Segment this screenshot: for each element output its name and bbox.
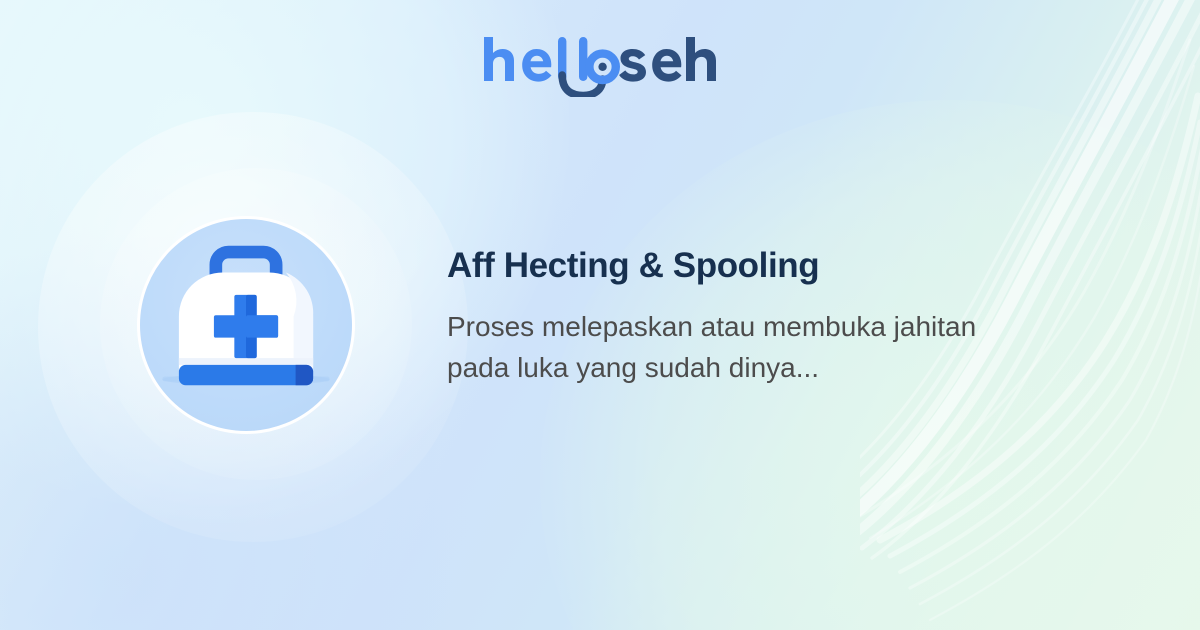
entry-description: Proses melepaskan atau membuka jahitan p… — [447, 306, 992, 388]
share-card: Aff Hecting & Spooling Proses melepaskan… — [0, 0, 1200, 630]
hellosehat-logo-icon — [480, 35, 720, 97]
brand-logo[interactable] — [0, 36, 1200, 96]
page-title: Aff Hecting & Spooling — [447, 244, 1027, 288]
medical-bag-icon — [140, 216, 352, 434]
entry-text-block: Aff Hecting & Spooling Proses melepaskan… — [447, 244, 1027, 388]
medical-bag-icon-badge — [137, 216, 355, 434]
